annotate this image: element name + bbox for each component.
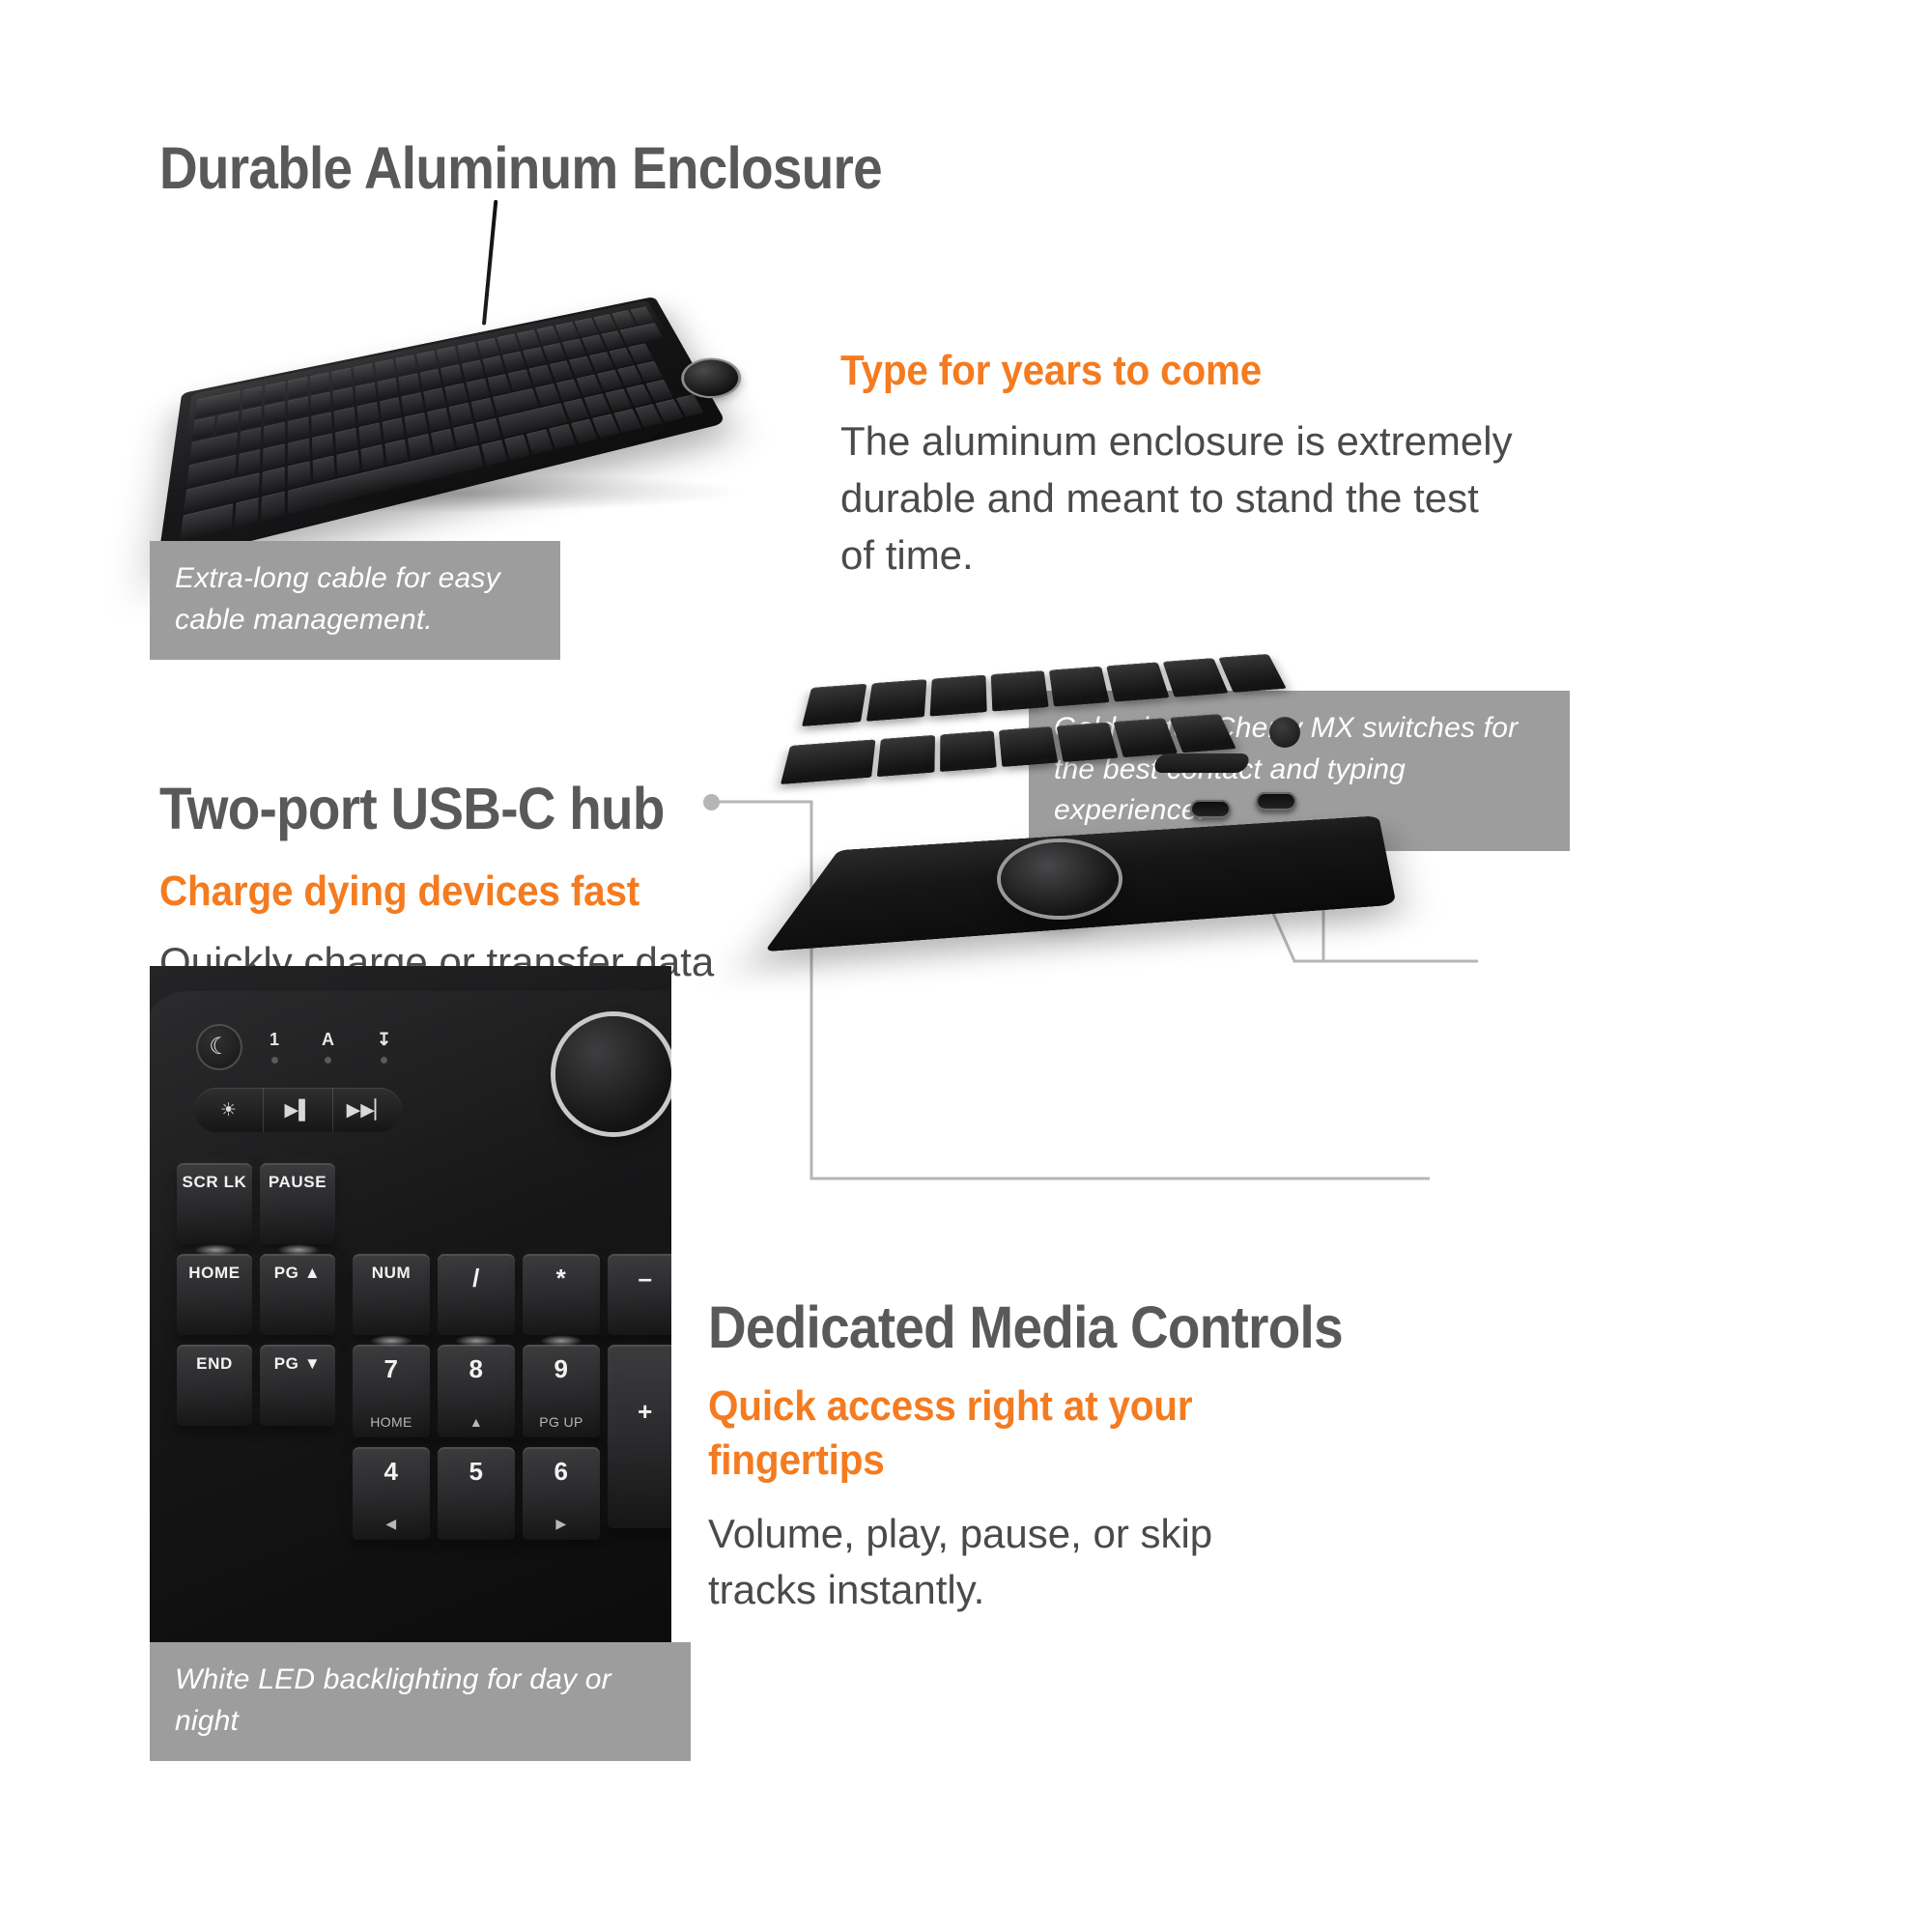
key-end: END xyxy=(177,1345,252,1426)
subhead-quick-access: Quick access right at your fingertips xyxy=(708,1379,1241,1489)
product-shadow xyxy=(185,471,745,515)
key-4: 4 ◀ xyxy=(353,1447,430,1540)
infographic-canvas: Durable Aluminum Enclosure xyxy=(0,0,1932,1932)
led-scroll-lock: ↧ xyxy=(377,1030,391,1064)
led-caps-lock: A xyxy=(322,1030,334,1064)
key-pg-dn: PG ▼ xyxy=(260,1345,335,1426)
key-7: 7 HOME xyxy=(353,1345,430,1437)
backlight-icon: ☀ xyxy=(194,1088,264,1132)
play-pause-icon: ▶▌ xyxy=(264,1088,333,1132)
subhead-type-for-years: Type for years to come xyxy=(840,344,1471,398)
key-num: NUM xyxy=(353,1254,430,1335)
key-scr-lk: SCR LK xyxy=(177,1163,252,1244)
section-title-enclosure: Durable Aluminum Enclosure xyxy=(159,137,882,199)
next-track-icon: ▶▶▏ xyxy=(333,1088,402,1132)
product-image-full-keyboard xyxy=(163,205,765,509)
sleep-icon: ☾ xyxy=(196,1024,242,1070)
key-plus: + xyxy=(608,1345,671,1528)
keyboard-deck xyxy=(157,297,726,564)
led-dot xyxy=(325,1057,331,1064)
numpad-board: ☾ 1 A ↧ ☀ ▶▌ ▶▶▏ xyxy=(150,991,671,1671)
section-title-hub: Two-port USB-C hub xyxy=(159,778,665,839)
hub-volume-knob xyxy=(1001,842,1119,916)
key-asterisk: * xyxy=(523,1254,600,1335)
usb-c-port-2 xyxy=(1256,792,1296,810)
subhead-charge-fast: Charge dying devices fast xyxy=(159,865,710,919)
keyboard-cable xyxy=(482,200,497,326)
caption-text-cable: Extra-long cable for easy cable manageme… xyxy=(175,558,535,640)
key-6: 6 ▶ xyxy=(523,1447,600,1540)
caption-box-backlight: White LED backlighting for day or night xyxy=(150,1642,691,1761)
product-image-numpad-closeup: ☾ 1 A ↧ ☀ ▶▌ ▶▶▏ xyxy=(150,966,671,1671)
hub-media-pill xyxy=(1152,753,1251,773)
hub-sleep-button xyxy=(1269,717,1300,748)
key-pg-up: PG ▲ xyxy=(260,1254,335,1335)
key-9: 9 PG UP xyxy=(523,1345,600,1437)
key-home: HOME xyxy=(177,1254,252,1335)
media-control-bar: ☀ ▶▌ ▶▶▏ xyxy=(194,1088,402,1132)
caption-text-backlight: White LED backlighting for day or night xyxy=(175,1660,666,1742)
keycap-row-lower xyxy=(781,714,1236,784)
body-text-enclosure: The aluminum enclosure is extremely dura… xyxy=(840,413,1517,583)
caption-box-cable: Extra-long cable for easy cable manageme… xyxy=(150,541,560,660)
key-5: 5 xyxy=(438,1447,515,1540)
led-dot xyxy=(381,1057,387,1064)
leader-dot-hub xyxy=(703,794,720,810)
product-image-hub-angle xyxy=(773,638,1439,1014)
volume-knob xyxy=(684,359,740,396)
numpad-volume-dial xyxy=(555,1016,671,1132)
key-minus: – xyxy=(608,1254,671,1335)
key-slash: / xyxy=(438,1254,515,1335)
led-indicator-group: 1 A ↧ xyxy=(270,1030,391,1064)
body-text-media: Volume, play, pause, or skip tracks inst… xyxy=(708,1506,1288,1620)
led-num-lock: 1 xyxy=(270,1030,279,1064)
key-8: 8 ▲ xyxy=(438,1345,515,1437)
key-pause: PAUSE xyxy=(260,1163,335,1244)
usb-c-port-1 xyxy=(1190,800,1231,818)
led-dot xyxy=(271,1057,278,1064)
section-title-media: Dedicated Media Controls xyxy=(708,1296,1343,1358)
